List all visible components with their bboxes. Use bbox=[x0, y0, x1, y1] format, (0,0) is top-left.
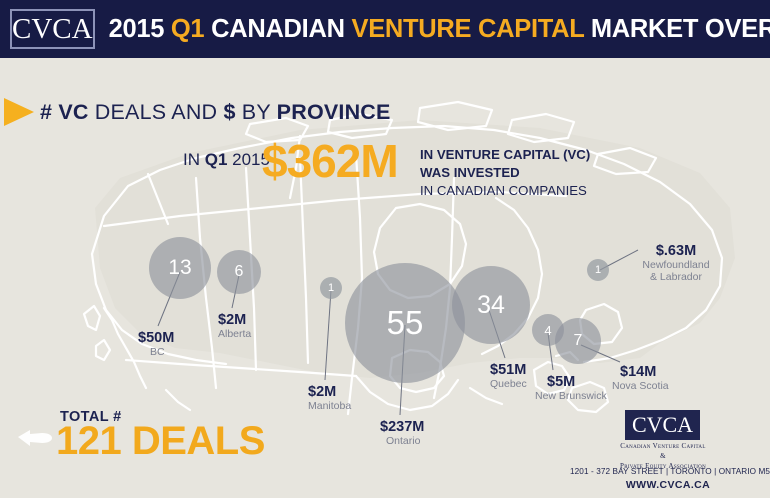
callout-newfoundland-amount: $.63M bbox=[630, 243, 722, 259]
bubble-newfoundland-value: 1 bbox=[595, 264, 601, 276]
footer-sub-line1: Canadian Venture Capital bbox=[598, 441, 728, 451]
title-part-year: 2015 bbox=[109, 15, 171, 43]
section-title-deals: DEALS AND bbox=[89, 100, 224, 124]
callout-new-brunswick-amount: $5M bbox=[547, 374, 607, 390]
title-part-quarter: Q1 bbox=[171, 15, 204, 43]
callout-newfoundland: $.63M Newfoundland& Labrador bbox=[630, 243, 722, 285]
bubble-ontario: 55 bbox=[345, 263, 465, 383]
cvca-logo-footer: CVCA bbox=[625, 410, 700, 440]
pointing-hand-icon bbox=[12, 424, 56, 450]
callout-ontario: $237M Ontario bbox=[380, 419, 424, 448]
callout-alberta: $2M Alberta bbox=[218, 312, 251, 341]
bubble-alberta-value: 6 bbox=[235, 263, 244, 281]
infographic-root: CVCA 2015 Q1 CANADIAN VENTURE CAPITAL MA… bbox=[0, 0, 770, 498]
cvca-logo-text: CVCA bbox=[12, 15, 93, 44]
callout-new-brunswick: $5M New Brunswick bbox=[535, 374, 607, 403]
page-title: 2015 Q1 CANADIAN VENTURE CAPITAL MARKET … bbox=[109, 15, 770, 44]
headline-desc-line2: WAS INVESTED bbox=[420, 164, 590, 182]
footer-url[interactable]: WWW.CVCA.CA bbox=[570, 479, 766, 491]
callout-newfoundland-province: Newfoundland& Labrador bbox=[630, 260, 722, 284]
headline-amount: $362M bbox=[262, 138, 398, 184]
bubble-manitoba-value: 1 bbox=[328, 282, 334, 294]
headline-prefix: IN Q1 2015 bbox=[183, 150, 270, 170]
footer-address: 1201 - 372 BAY STREET | TORONTO | ONTARI… bbox=[570, 467, 766, 476]
bubble-ontario-value: 55 bbox=[387, 304, 424, 342]
cvca-logo-footer-text: CVCA bbox=[632, 414, 693, 436]
cvca-logo-header: CVCA bbox=[10, 9, 95, 49]
callout-quebec-amount: $51M bbox=[490, 362, 527, 378]
callout-bc: $50M BC bbox=[138, 330, 174, 359]
bubble-alberta: 6 bbox=[217, 250, 261, 294]
section-title-by: BY bbox=[236, 100, 277, 124]
headline-in: IN bbox=[183, 150, 205, 169]
bubble-quebec-value: 34 bbox=[477, 291, 505, 320]
callout-bc-amount: $50M bbox=[138, 330, 174, 346]
section-title-vc: # VC bbox=[40, 100, 89, 124]
callout-alberta-province: Alberta bbox=[218, 329, 251, 341]
section-title-dollar: $ bbox=[223, 100, 235, 124]
title-part-market-overview: MARKET OVERVIEW bbox=[584, 15, 770, 43]
bubble-quebec: 34 bbox=[452, 266, 530, 344]
callout-manitoba-province: Manitoba bbox=[308, 401, 351, 413]
callout-new-brunswick-province: New Brunswick bbox=[535, 391, 607, 403]
section-title-province: PROVINCE bbox=[277, 100, 391, 124]
section-title: # VC DEALS AND $ BY PROVINCE bbox=[40, 100, 391, 125]
headline-quarter: Q1 bbox=[205, 150, 228, 169]
callout-ontario-province: Ontario bbox=[386, 436, 424, 448]
headline-description: IN VENTURE CAPITAL (VC) WAS INVESTED IN … bbox=[420, 146, 590, 199]
headline-desc-line1: IN VENTURE CAPITAL (VC) bbox=[420, 146, 590, 164]
triangle-right-icon bbox=[4, 98, 34, 126]
bubble-nova-scotia-value: 7 bbox=[574, 332, 583, 350]
callout-quebec-province: Quebec bbox=[490, 379, 527, 391]
callout-nova-scotia: $14M Nova Scotia bbox=[612, 364, 669, 393]
headline-desc-line3: IN CANADIAN COMPANIES bbox=[420, 182, 590, 200]
bubble-nova-scotia: 7 bbox=[555, 318, 601, 364]
title-part-venture-capital: VENTURE CAPITAL bbox=[351, 15, 584, 43]
bubble-new-brunswick-value: 4 bbox=[544, 323, 551, 338]
footer-sub-line2: & bbox=[598, 451, 728, 461]
bubble-bc-value: 13 bbox=[168, 256, 191, 280]
title-part-canadian: CANADIAN bbox=[204, 15, 351, 43]
callout-ontario-amount: $237M bbox=[380, 419, 424, 435]
bubble-manitoba: 1 bbox=[320, 277, 342, 299]
callout-bc-province: BC bbox=[150, 347, 174, 359]
callout-nova-scotia-province: Nova Scotia bbox=[612, 381, 669, 393]
callout-alberta-amount: $2M bbox=[218, 312, 251, 328]
bubble-bc: 13 bbox=[149, 237, 211, 299]
total-deals-value: 121 DEALS bbox=[56, 419, 265, 464]
header-bar: CVCA 2015 Q1 CANADIAN VENTURE CAPITAL MA… bbox=[0, 0, 770, 58]
callout-nova-scotia-amount: $14M bbox=[620, 364, 669, 380]
callout-quebec: $51M Quebec bbox=[490, 362, 527, 391]
bubble-newfoundland: 1 bbox=[587, 259, 609, 281]
callout-manitoba-amount: $2M bbox=[308, 384, 351, 400]
callout-manitoba: $2M Manitoba bbox=[308, 384, 351, 413]
